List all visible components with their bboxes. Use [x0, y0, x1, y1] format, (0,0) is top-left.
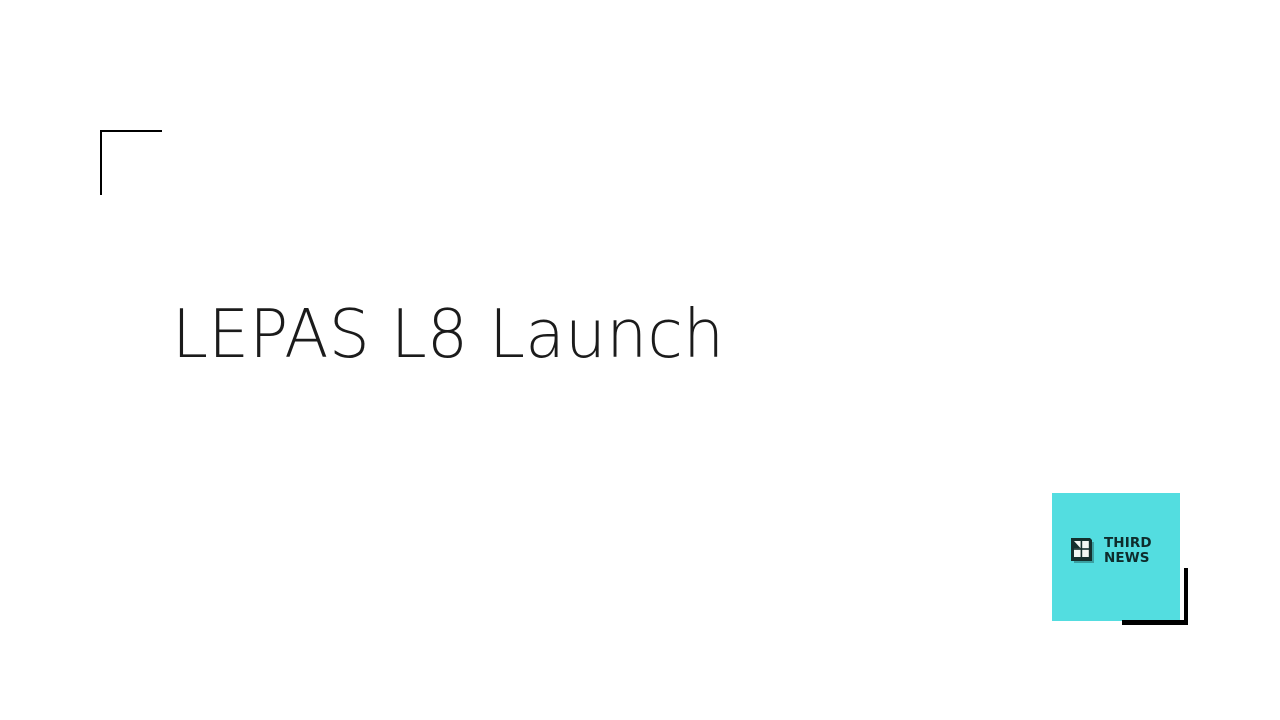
newspaper-window-icon	[1068, 536, 1098, 566]
title-placeholder[interactable]: LEPAS L8 Launch	[172, 296, 872, 373]
brand-wordmark-line-1: THIRD	[1104, 537, 1152, 551]
brand-wordmark: THIRD NEWS	[1104, 537, 1152, 565]
title-slide: LEPAS L8 Launch	[0, 0, 1280, 720]
brand-logo-lockup[interactable]: THIRD NEWS	[1052, 493, 1180, 621]
corner-bracket-top-left-decoration	[100, 130, 162, 195]
brand-wordmark-line-2: NEWS	[1104, 552, 1152, 566]
page-title: LEPAS L8 Launch	[172, 296, 848, 373]
logo-content: THIRD NEWS	[1068, 536, 1152, 566]
